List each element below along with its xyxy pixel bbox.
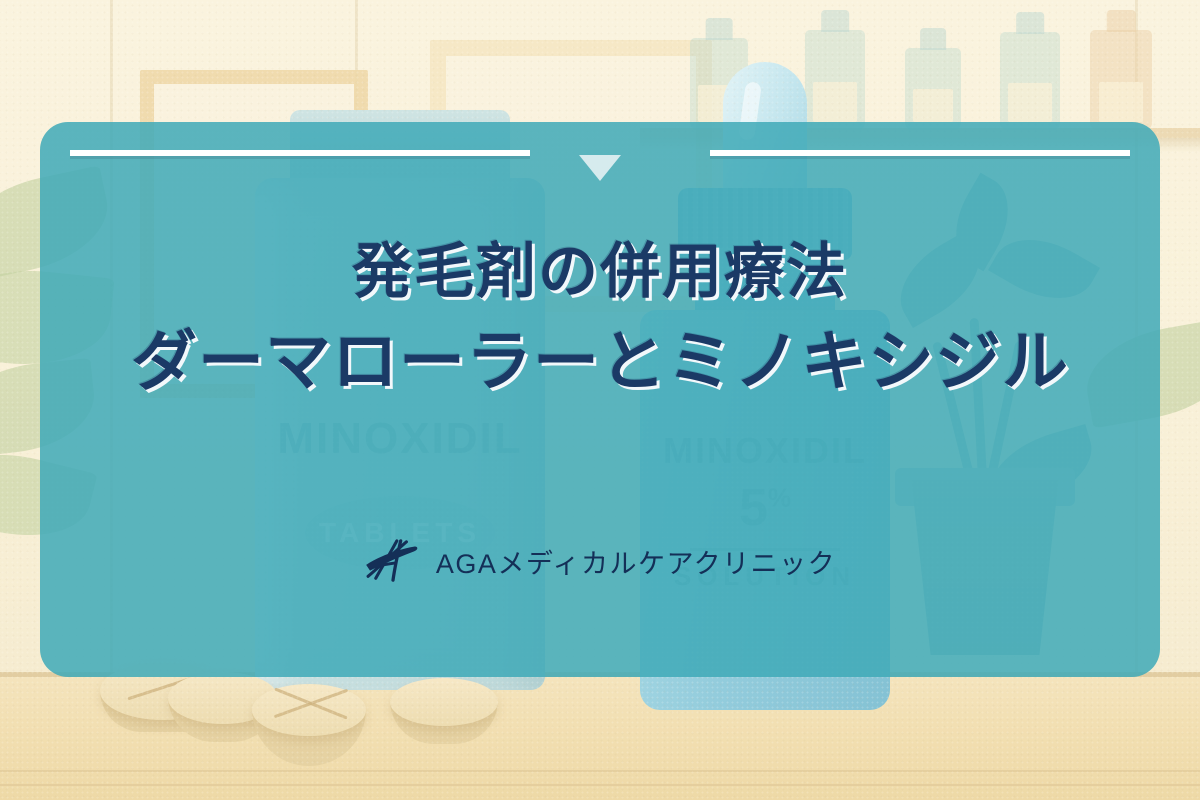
shelf-bottle [905,48,961,130]
brand-name: AGAメディカルケアクリニック [436,542,836,581]
title-card: 発毛剤の併用療法 ダーマローラーとミノキシジル AGAメディカルケアクリニック [40,122,1160,677]
loose-tablet [252,684,366,736]
top-rule-left [70,150,530,156]
shelf-bottle [805,30,865,130]
desk-grain [0,784,1200,786]
loose-tablet [390,678,498,726]
title-card-image: MINOXIDIL TABLETS MINOXIDIL 5% SOLUTION [0,0,1200,800]
shelf-bottle [1000,32,1060,130]
shelf-bottle [1090,30,1152,130]
top-rule-right [710,150,1130,156]
aga-ah-monogram-icon [364,538,422,584]
headline-line-2: ダーマローラーとミノキシジル [40,320,1160,403]
headline-line-1: 発毛剤の併用療法 [40,234,1160,310]
desk-grain [0,770,1200,772]
triangle-down-icon [579,155,621,181]
brand-logo: AGAメディカルケアクリニック [40,538,1160,584]
page-title: 発毛剤の併用療法 ダーマローラーとミノキシジル [40,234,1160,403]
